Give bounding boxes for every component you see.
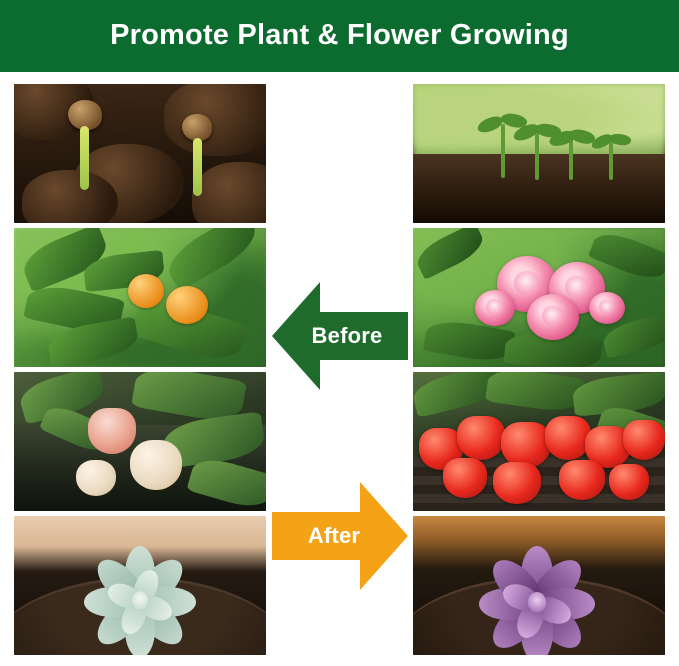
photo-unripe-strawberries (14, 372, 266, 511)
photo-orange-berries (14, 228, 266, 367)
scene-purple-succulent (413, 516, 665, 655)
scene-pale-succulent (14, 516, 266, 655)
before-arrow: Before (272, 276, 408, 396)
scene-unripe-strawberries (14, 372, 266, 511)
header-banner: Promote Plant & Flower Growing (0, 0, 679, 72)
photo-grid: Before After (0, 72, 679, 666)
after-arrow: After (272, 476, 408, 596)
scene-ripe-strawberries (413, 372, 665, 511)
scene-pink-roses (413, 228, 665, 367)
scene-orange-berries (14, 228, 266, 367)
before-arrow-label: Before (312, 323, 383, 349)
photo-pale-succulent (14, 516, 266, 655)
photo-pink-roses (413, 228, 665, 367)
photo-purple-succulent (413, 516, 665, 655)
scene-seeds-sprouting (14, 84, 266, 223)
page-title: Promote Plant & Flower Growing (110, 20, 569, 52)
photo-seedlings-growing (413, 84, 665, 223)
scene-seedlings-growing (413, 84, 665, 223)
photo-seeds-sprouting (14, 84, 266, 223)
photo-ripe-strawberries (413, 372, 665, 511)
after-arrow-label: After (308, 523, 360, 549)
